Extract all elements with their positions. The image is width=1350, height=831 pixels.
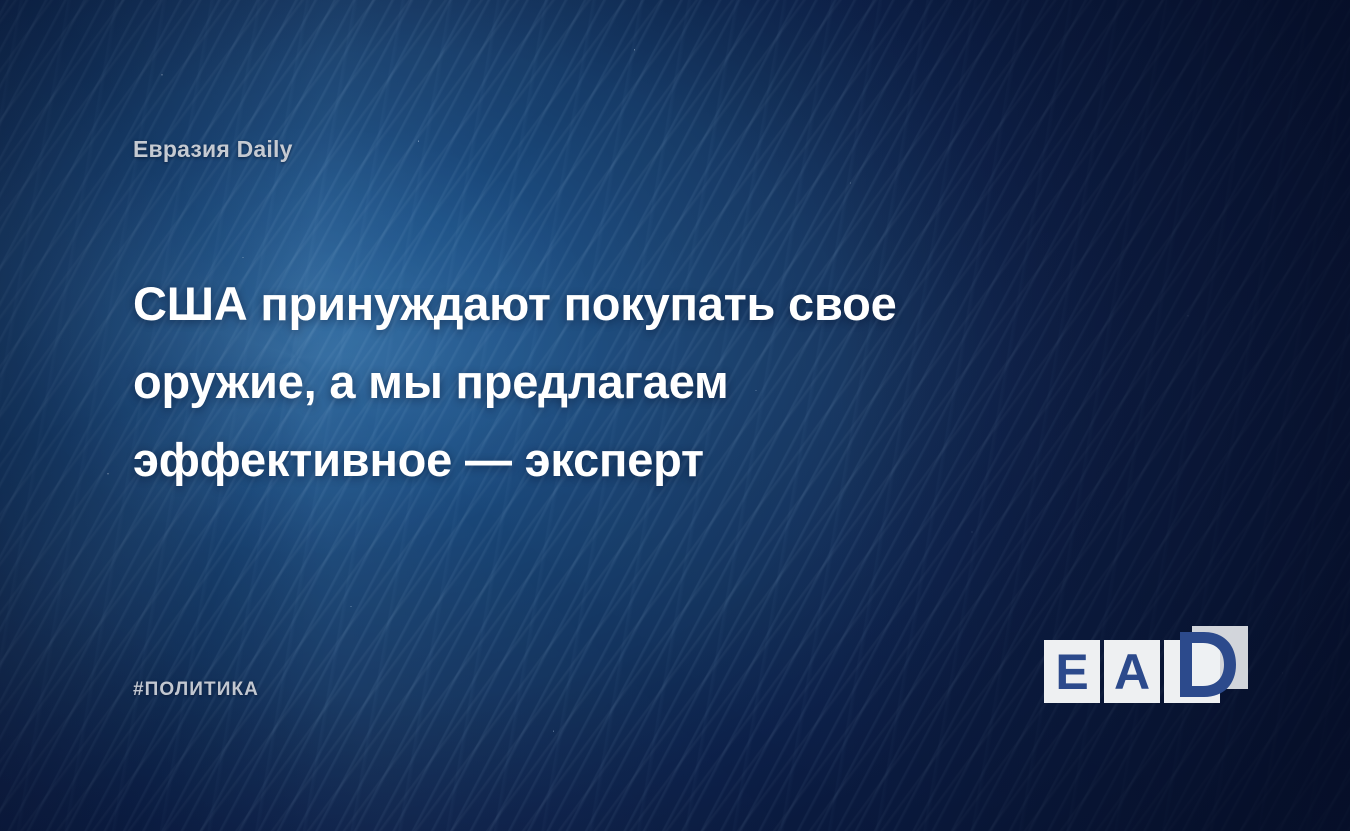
news-card: Евразия Daily США принуждают покупать св… (0, 0, 1350, 831)
logo-tile-d (1164, 640, 1220, 703)
headline-line-3: эффективное — эксперт (133, 421, 1053, 499)
headline: США принуждают покупать свое оружие, а м… (133, 265, 1053, 499)
category-hashtag[interactable]: #ПОЛИТИКА (133, 679, 259, 701)
logo-tiles: E A (1044, 640, 1220, 703)
headline-line-2: оружие, а мы предлагаем (133, 343, 1053, 421)
card-content: Евразия Daily США принуждают покупать св… (0, 0, 1350, 831)
logo-tile-a: A (1104, 640, 1160, 703)
eadaily-logo: E A (1044, 627, 1220, 703)
headline-line-1: США принуждают покупать свое (133, 265, 1053, 343)
logo-letter-a: A (1114, 647, 1150, 697)
brand-title: Евразия Daily (133, 136, 293, 164)
logo-tile-e: E (1044, 640, 1100, 703)
logo-letter-d (1170, 626, 1248, 703)
logo-letter-e: E (1055, 647, 1088, 697)
